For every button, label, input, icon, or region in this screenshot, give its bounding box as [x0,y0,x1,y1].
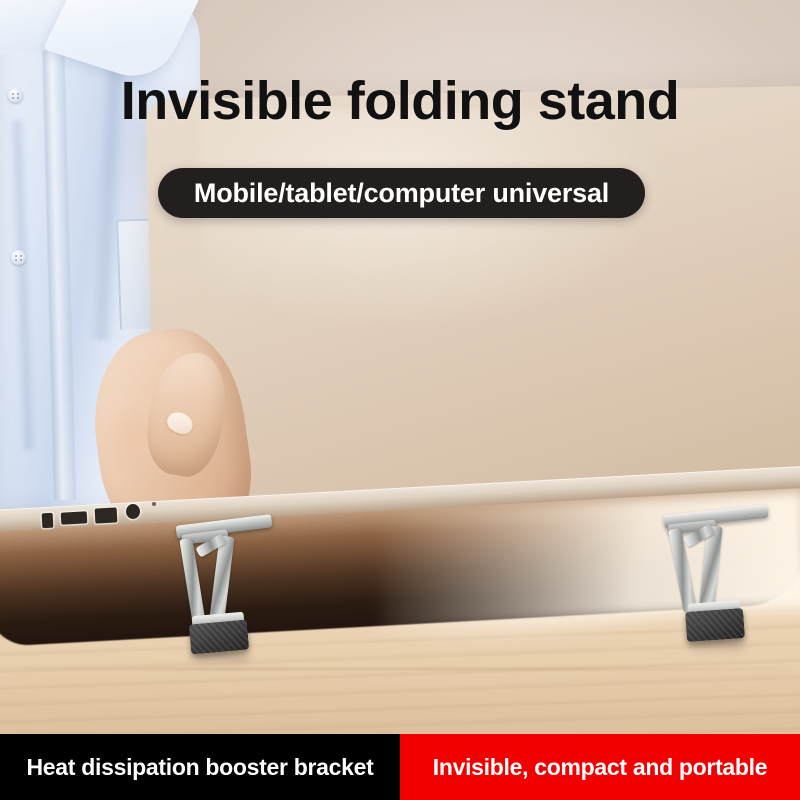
laptop-port-usb [61,511,88,524]
laptop-port-power [126,504,140,519]
bottom-caption-bar: Heat dissipation booster bracket Invisib… [0,734,800,800]
bottom-caption-right-label: Invisible, compact and portable [433,754,768,781]
stand-rubber-foot [685,608,745,642]
laptop-lid-highlight [200,110,760,410]
shirt-button [11,250,26,265]
page-title: Invisible folding stand [0,72,800,131]
stand-foot-reflection [192,650,250,666]
subtitle-pill-label: Mobile/tablet/computer universal [194,178,609,209]
bottom-caption-left-label: Heat dissipation booster bracket [27,754,374,781]
stand-foot-reflection [688,638,746,654]
bottom-caption-right: Invisible, compact and portable [400,734,800,800]
laptop-port-audio [42,513,54,529]
bottom-caption-left: Heat dissipation booster bracket [0,734,400,800]
product-marketing-image: Invisible folding stand Mobile/tablet/co… [0,0,800,800]
laptop-indicator-led [152,502,156,506]
subtitle-pill: Mobile/tablet/computer universal [158,168,645,218]
laptop-port-hdmi [95,507,118,523]
